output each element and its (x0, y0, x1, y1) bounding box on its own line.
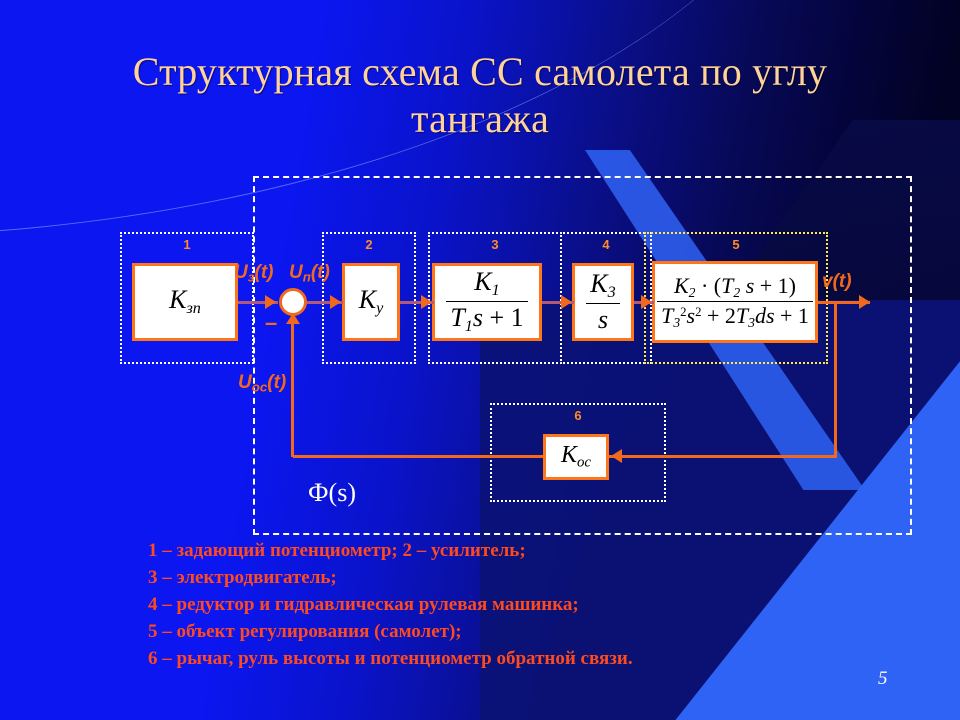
signal-label-output: v(t) (822, 271, 852, 293)
arrow-into-block2 (330, 295, 341, 309)
group-number-2: 2 (324, 237, 414, 252)
block-2-formula: Ky (359, 287, 384, 317)
block-1-gain[interactable]: Kзп (132, 263, 238, 341)
block-4-formula: K3 s (586, 270, 619, 333)
arrow-into-block4 (561, 295, 572, 309)
signal-error-text: U (289, 262, 303, 283)
block-4-reducer[interactable]: K3 s (572, 263, 634, 341)
wire-block6-to-left (293, 455, 543, 458)
signal-label-error: Uп(t) (289, 262, 330, 285)
signal-label-input: Uз(t) (234, 262, 274, 285)
signal-feedback-text: U (238, 372, 252, 393)
block-6-formula: Kос (561, 443, 591, 470)
summing-junction[interactable] (279, 288, 307, 316)
signal-label-feedback: Uос(t) (238, 372, 286, 395)
group-number-6: 6 (492, 408, 664, 423)
slide-title: Структурная схема СС самолета по углу та… (60, 48, 900, 142)
slide-canvas: Структурная схема СС самолета по углу та… (0, 0, 960, 720)
block-5-formula: K2 · (T2 s + 1) T32s2 + 2T3ds + 1 (657, 274, 813, 331)
legend-line-4: 5 – объект регулирования (самолет); (148, 619, 868, 646)
signal-input-text: U (234, 262, 248, 283)
legend-line-2: 3 – электродвигатель; (148, 565, 868, 592)
transfer-function-label: Ф(s) (308, 478, 356, 508)
block-6-feedback-gain[interactable]: Kос (543, 434, 609, 480)
block-1-formula: Kзп (169, 287, 201, 317)
sum-minus-sign: – (265, 312, 277, 334)
arrow-into-block5 (641, 295, 652, 309)
arrow-into-block6 (611, 449, 622, 463)
legend-line-5: 6 – рычаг, руль высоты и потенциометр об… (148, 646, 868, 673)
arrow-into-block3 (421, 295, 432, 309)
group-number-3: 3 (430, 237, 560, 252)
wire-feedback-up-to-sum (291, 322, 294, 457)
group-number-5: 5 (646, 237, 826, 252)
group-number-1: 1 (122, 237, 252, 252)
arrow-into-sum (265, 295, 276, 309)
group-number-4: 4 (562, 237, 650, 252)
block-3-motor[interactable]: K1 T1s + 1 (432, 263, 542, 341)
page-number: 5 (878, 668, 888, 690)
wire-feedback-to-block6 (609, 455, 837, 458)
legend-line-1: 1 – задающий потенциометр; 2 – усилитель… (148, 538, 868, 565)
block-3-formula: K1 T1s + 1 (446, 268, 527, 336)
arrow-output (859, 295, 870, 309)
legend-line-3: 4 – редуктор и гидравлическая рулевая ма… (148, 592, 868, 619)
legend-list: 1 – задающий потенциометр; 2 – усилитель… (148, 538, 868, 673)
wire-output-tap-down (834, 301, 837, 457)
block-5-aircraft[interactable]: K2 · (T2 s + 1) T32s2 + 2T3ds + 1 (652, 261, 818, 343)
block-2-amplifier[interactable]: Ky (342, 263, 400, 341)
